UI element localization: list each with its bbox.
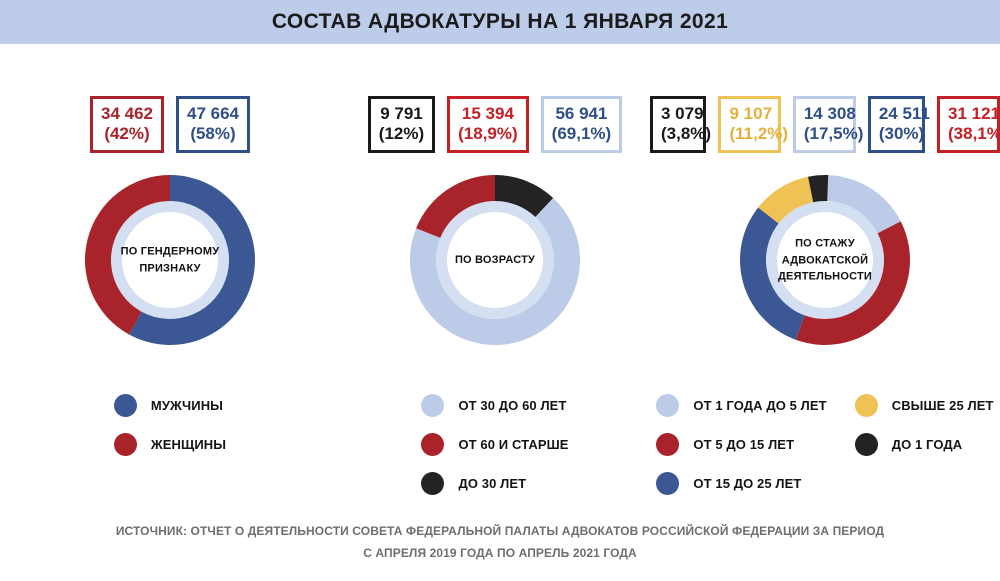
value-box-number: 3 079 [661, 104, 695, 124]
page-header: СОСТАВ АДВОКАТУРЫ НА 1 ЯНВАРЯ 2021 [0, 0, 1000, 44]
donut-inner-ring [772, 207, 879, 314]
value-boxes-age: 9 791(12%)15 394(18,9%)56 941(69,1%) [330, 96, 660, 153]
donut-svg-age [407, 172, 583, 348]
legend-item-label: ДО 1 ГОДА [892, 437, 963, 452]
value-box: 47 664(58%) [176, 96, 250, 153]
value-box: 9 107(11,2%) [718, 96, 780, 153]
source-note: ИСТОЧНИК: ОТЧЕТ О ДЕЯТЕЛЬНОСТИ СОВЕТА ФЕ… [0, 520, 1000, 564]
value-box-number: 47 664 [187, 104, 239, 124]
legend-item[interactable]: ДО 30 ЛЕТ [421, 472, 568, 495]
value-box-number: 9 107 [729, 104, 769, 124]
legend-item-label: ОТ 30 ДО 60 ЛЕТ [458, 398, 566, 413]
value-box-percent: (69,1%) [552, 124, 612, 144]
value-box-percent: (3,8%) [661, 124, 695, 144]
value-box-number: 15 394 [458, 104, 518, 124]
legend-tenure: ОТ 1 ГОДА ДО 5 ЛЕТОТ 5 ДО 15 ЛЕТОТ 15 ДО… [650, 394, 1000, 495]
value-box-percent: (30%) [879, 124, 914, 144]
legend-item-label: ОТ 1 ГОДА ДО 5 ЛЕТ [693, 398, 826, 413]
legend-swatch-icon [421, 433, 444, 456]
legend-age: ОТ 30 ДО 60 ЛЕТОТ 60 И СТАРШЕДО 30 ЛЕТ [330, 394, 660, 495]
value-box-percent: (58%) [187, 124, 239, 144]
donut-chart-tenure: ПО СТАЖУ АДВОКАТСКОЙ ДЕЯТЕЛЬНОСТИ [737, 172, 913, 348]
legend-inner-tenure: ОТ 1 ГОДА ДО 5 ЛЕТОТ 5 ДО 15 ЛЕТОТ 15 ДО… [656, 394, 993, 495]
legend-item[interactable]: МУЖЧИНЫ [114, 394, 226, 417]
donut-chart-age: ПО ВОЗРАСТУ [407, 172, 583, 348]
legend-swatch-icon [855, 394, 878, 417]
legend-item[interactable]: ОТ 5 ДО 15 ЛЕТ [656, 433, 826, 456]
donut-wrap-gender: ПО ГЕНДЕРНОМУ ПРИЗНАКУ [0, 172, 340, 348]
legend-column: ОТ 30 ДО 60 ЛЕТОТ 60 И СТАРШЕДО 30 ЛЕТ [421, 394, 568, 495]
legend-item[interactable]: СВЫШЕ 25 ЛЕТ [855, 394, 994, 417]
value-box-number: 9 791 [379, 104, 424, 124]
value-box: 14 308(17,5%) [793, 96, 856, 153]
legend-item[interactable]: ОТ 1 ГОДА ДО 5 ЛЕТ [656, 394, 826, 417]
donut-chart-gender: ПО ГЕНДЕРНОМУ ПРИЗНАКУ [82, 172, 258, 348]
legend-swatch-icon [421, 394, 444, 417]
source-line-1: ИСТОЧНИК: ОТЧЕТ О ДЕЯТЕЛЬНОСТИ СОВЕТА ФЕ… [116, 524, 884, 538]
value-box: 9 791(12%) [368, 96, 435, 153]
donut-segment[interactable] [796, 221, 910, 345]
legend-inner-age: ОТ 30 ДО 60 ЛЕТОТ 60 И СТАРШЕДО 30 ЛЕТ [421, 394, 568, 495]
legend-column: СВЫШЕ 25 ЛЕТДО 1 ГОДА [855, 394, 994, 495]
legend-gender: МУЖЧИНЫЖЕНЩИНЫ [0, 394, 340, 456]
value-box-number: 14 308 [804, 104, 845, 124]
legend-item-label: ОТ 15 ДО 25 ЛЕТ [693, 476, 801, 491]
value-box-percent: (42%) [101, 124, 153, 144]
value-box: 34 462(42%) [90, 96, 164, 153]
legend-item-label: ДО 30 ЛЕТ [458, 476, 526, 491]
legend-swatch-icon [656, 472, 679, 495]
value-box-percent: (17,5%) [804, 124, 845, 144]
value-box-number: 24 511 [879, 104, 914, 124]
legend-item-label: ОТ 60 И СТАРШЕ [458, 437, 568, 452]
legend-column: МУЖЧИНЫЖЕНЩИНЫ [114, 394, 226, 456]
legend-item-label: МУЖЧИНЫ [151, 398, 223, 413]
chart-column-tenure: 3 079(3,8%)9 107(11,2%)14 308(17,5%)24 5… [650, 44, 1000, 514]
value-boxes-gender: 34 462(42%)47 664(58%) [0, 96, 340, 153]
donut-wrap-tenure: ПО СТАЖУ АДВОКАТСКОЙ ДЕЯТЕЛЬНОСТИ [650, 172, 1000, 348]
legend-swatch-icon [114, 433, 137, 456]
legend-swatch-icon [114, 394, 137, 417]
donut-inner-ring [442, 207, 549, 314]
legend-item[interactable]: ОТ 60 И СТАРШЕ [421, 433, 568, 456]
value-box-percent: (12%) [379, 124, 424, 144]
value-box-percent: (38,1%) [948, 124, 989, 144]
donut-inner-ring [117, 207, 224, 314]
value-box-number: 56 941 [552, 104, 612, 124]
chart-column-gender: 34 462(42%)47 664(58%) ПО ГЕНДЕРНОМУ ПРИ… [0, 44, 340, 514]
chart-column-age: 9 791(12%)15 394(18,9%)56 941(69,1%) ПО … [330, 44, 660, 514]
legend-swatch-icon [855, 433, 878, 456]
legend-item-label: ОТ 5 ДО 15 ЛЕТ [693, 437, 794, 452]
donut-svg-gender [82, 172, 258, 348]
value-box: 15 394(18,9%) [447, 96, 529, 153]
value-box: 3 079(3,8%) [650, 96, 706, 153]
value-box: 56 941(69,1%) [541, 96, 623, 153]
value-box-number: 34 462 [101, 104, 153, 124]
value-boxes-tenure: 3 079(3,8%)9 107(11,2%)14 308(17,5%)24 5… [650, 96, 1000, 153]
value-box-number: 31 121 [948, 104, 989, 124]
source-line-2: С АПРЕЛЯ 2019 ГОДА ПО АПРЕЛЬ 2021 ГОДА [0, 542, 1000, 564]
legend-item[interactable]: ОТ 30 ДО 60 ЛЕТ [421, 394, 568, 417]
legend-item[interactable]: ДО 1 ГОДА [855, 433, 994, 456]
legend-item-label: СВЫШЕ 25 ЛЕТ [892, 398, 994, 413]
value-box-percent: (11,2%) [729, 124, 769, 144]
donut-svg-tenure [737, 172, 913, 348]
value-box: 31 121(38,1%) [937, 96, 1000, 153]
page-title: СОСТАВ АДВОКАТУРЫ НА 1 ЯНВАРЯ 2021 [272, 10, 728, 34]
value-box-percent: (18,9%) [458, 124, 518, 144]
value-box: 24 511(30%) [868, 96, 925, 153]
legend-column: ОТ 1 ГОДА ДО 5 ЛЕТОТ 5 ДО 15 ЛЕТОТ 15 ДО… [656, 394, 826, 495]
legend-swatch-icon [656, 394, 679, 417]
legend-swatch-icon [421, 472, 444, 495]
donut-wrap-age: ПО ВОЗРАСТУ [330, 172, 660, 348]
legend-swatch-icon [656, 433, 679, 456]
legend-item[interactable]: ОТ 15 ДО 25 ЛЕТ [656, 472, 826, 495]
legend-item[interactable]: ЖЕНЩИНЫ [114, 433, 226, 456]
legend-item-label: ЖЕНЩИНЫ [151, 437, 226, 452]
legend-inner-gender: МУЖЧИНЫЖЕНЩИНЫ [114, 394, 226, 456]
